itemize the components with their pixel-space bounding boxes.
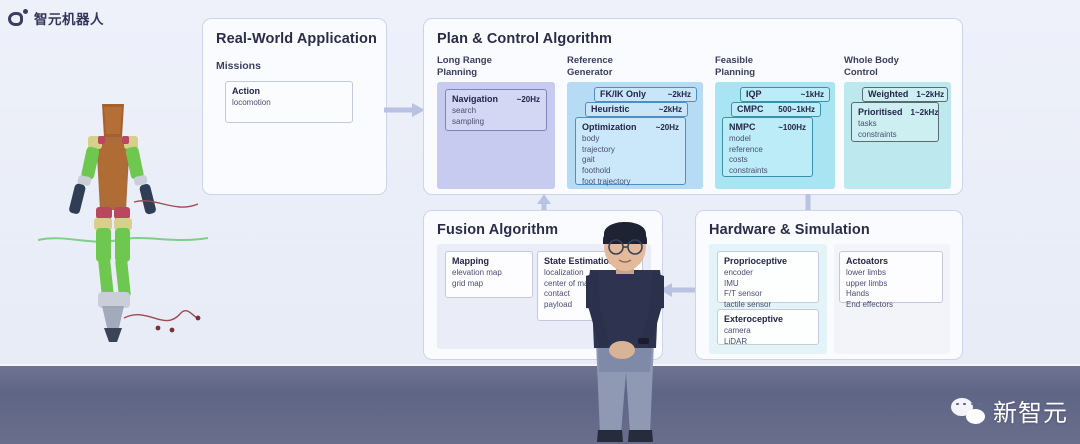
column-body-reference-generator: FK/IK Only ~2kHz Heuristic ~2kHz Optimiz… — [567, 82, 703, 189]
card-mapping-item: grid map — [452, 279, 526, 290]
card-prioritised-freq: 1~2kHz — [911, 108, 939, 117]
card-iqp-freq: ~1kHz — [801, 90, 824, 99]
card-proprioceptive-item: encoder — [724, 268, 812, 279]
fusion-title: Fusion Algorithm — [437, 222, 558, 238]
card-action[interactable]: Action locomotion — [225, 81, 353, 123]
card-navigation-name: Navigation — [452, 94, 498, 104]
card-nmpc-name: NMPC — [729, 122, 756, 132]
column-label-feasible-planning: Feasible Planning — [715, 55, 755, 78]
brand-logo: 智元机器人 — [8, 8, 104, 28]
card-optimization-name: Optimization — [582, 122, 637, 132]
card-proprioceptive[interactable]: Proprioceptive encoder IMU F/T sensor ta… — [717, 251, 819, 303]
card-exteroceptive-name: Exteroceptive — [724, 314, 783, 324]
robot-simulation-figure — [38, 92, 208, 347]
card-exteroceptive-item: camera — [724, 326, 812, 337]
panel-hardware-simulation: Hardware & Simulation Proprioceptive enc… — [695, 210, 963, 360]
wechat-icon — [951, 398, 985, 424]
card-fk-ik-only[interactable]: FK/IK Only ~2kHz — [594, 87, 697, 102]
wechat-watermark: 新智元 — [951, 393, 1068, 428]
card-optimization-item: foot trajectory — [582, 177, 679, 188]
card-optimization-item: gait — [582, 155, 679, 166]
card-fk-ik-only-freq: ~2kHz — [668, 90, 691, 99]
hardware-sensors-body: Proprioceptive encoder IMU F/T sensor ta… — [709, 244, 827, 354]
card-actoators[interactable]: Actoators lower limbs upper limbs Hands … — [839, 251, 943, 303]
card-exteroceptive[interactable]: Exteroceptive camera LiDAR — [717, 309, 819, 345]
column-label-long-range-planning: Long Range Planning — [437, 55, 492, 78]
panel-plan-control-algorithm: Plan & Control Algorithm Long Range Plan… — [423, 18, 963, 195]
card-proprioceptive-name: Proprioceptive — [724, 256, 787, 266]
card-proprioceptive-item: IMU — [724, 279, 812, 290]
card-actoators-item: Hands — [846, 289, 936, 300]
card-nmpc-item: costs — [729, 155, 806, 166]
card-heuristic-freq: ~2kHz — [659, 105, 682, 114]
card-mapping-item: elevation map — [452, 268, 526, 279]
real-world-subtitle: Missions — [216, 60, 261, 72]
real-world-title: Real-World Application — [216, 31, 377, 47]
card-actoators-item: lower limbs — [846, 268, 936, 279]
agibot-logo-icon — [8, 9, 28, 27]
card-navigation-freq: ~20Hz — [517, 95, 540, 104]
card-optimization-item: foothold — [582, 166, 679, 177]
card-optimization-item: body — [582, 134, 679, 145]
card-cmpc[interactable]: CMPC 500~1kHz — [731, 102, 821, 117]
card-weighted-freq: 1~2kHz — [916, 90, 944, 99]
card-nmpc-item: model — [729, 134, 806, 145]
card-cmpc-freq: 500~1kHz — [778, 105, 815, 114]
column-label-reference-generator: Reference Generator — [567, 55, 613, 78]
presenter-person — [566, 222, 684, 444]
card-nmpc-freq: ~100Hz — [778, 123, 806, 132]
card-nmpc-item: reference — [729, 145, 806, 156]
card-prioritised[interactable]: Prioritised 1~2kHz tasks constraints — [851, 102, 939, 142]
card-optimization-freq: ~20Hz — [656, 123, 679, 132]
card-heuristic-name: Heuristic — [591, 104, 630, 114]
hardware-title: Hardware & Simulation — [709, 222, 870, 238]
card-optimization-item: trajectory — [582, 145, 679, 156]
card-iqp[interactable]: IQP ~1kHz — [740, 87, 830, 102]
card-weighted[interactable]: Weighted 1~2kHz — [862, 87, 948, 102]
card-mapping[interactable]: Mapping elevation map grid map — [445, 251, 533, 298]
plan-control-title: Plan & Control Algorithm — [437, 31, 612, 47]
column-body-whole-body-control: Weighted 1~2kHz Prioritised 1~2kHz tasks… — [844, 82, 951, 189]
card-actoators-item: End effectors — [846, 300, 936, 311]
card-actoators-name: Actoators — [846, 256, 888, 266]
hardware-actuators-body: Actoators lower limbs upper limbs Hands … — [834, 244, 950, 354]
card-nmpc[interactable]: NMPC ~100Hz model reference costs constr… — [722, 117, 813, 177]
card-proprioceptive-item: F/T sensor — [724, 289, 812, 300]
card-navigation-item: search — [452, 106, 540, 117]
watermark-text: 新智元 — [993, 393, 1068, 428]
card-optimization[interactable]: Optimization ~20Hz body trajectory gait … — [575, 117, 686, 185]
card-nmpc-item: constraints — [729, 166, 806, 177]
card-weighted-name: Weighted — [868, 89, 908, 99]
card-heuristic[interactable]: Heuristic ~2kHz — [585, 102, 688, 117]
card-prioritised-item: constraints — [858, 130, 932, 141]
card-prioritised-name: Prioritised — [858, 107, 903, 117]
card-iqp-name: IQP — [746, 89, 762, 99]
brand-wordmark: 智元机器人 — [34, 8, 104, 28]
card-action-item: locomotion — [232, 98, 346, 109]
card-cmpc-name: CMPC — [737, 104, 764, 114]
card-navigation[interactable]: Navigation ~20Hz search sampling — [445, 89, 547, 131]
column-body-feasible-planning: IQP ~1kHz CMPC 500~1kHz NMPC ~100Hz — [715, 82, 835, 189]
stage-floor — [0, 366, 1080, 444]
column-label-whole-body-control: Whole Body Control — [844, 55, 899, 78]
arrow-realworld-to-plan — [384, 102, 426, 118]
card-action-name: Action — [232, 86, 260, 96]
card-exteroceptive-item: LiDAR — [724, 337, 812, 348]
card-fk-ik-only-name: FK/IK Only — [600, 89, 646, 99]
card-navigation-item: sampling — [452, 117, 540, 128]
card-mapping-name: Mapping — [452, 256, 489, 266]
column-body-long-range-planning: Navigation ~20Hz search sampling — [437, 82, 555, 189]
card-actoators-item: upper limbs — [846, 279, 936, 290]
card-prioritised-item: tasks — [858, 119, 932, 130]
panel-real-world-application: Real-World Application Missions Action l… — [202, 18, 387, 195]
